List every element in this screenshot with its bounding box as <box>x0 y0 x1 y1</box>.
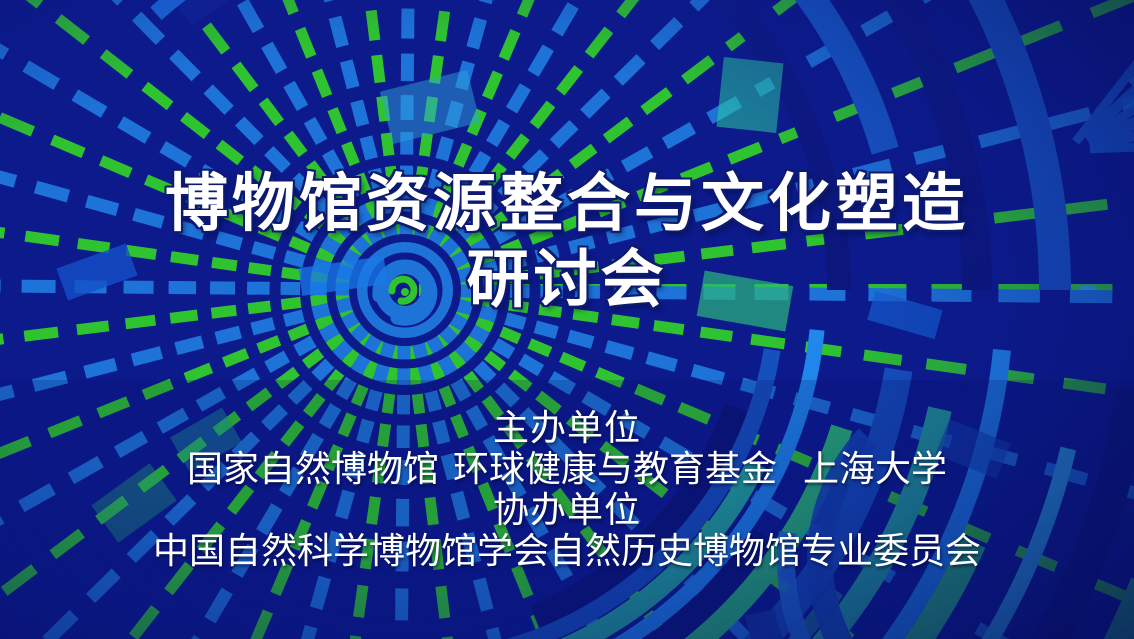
cohost-label: 协办单位 <box>0 490 1134 531</box>
host-label: 主办单位 <box>0 408 1134 449</box>
organizer-block: 主办单位 国家自然博物馆环球健康与教育基金上海大学 协办单位 中国自然科学博物馆… <box>0 408 1134 572</box>
cohost-name-1: 中国自然科学博物馆学会自然历史博物馆专业委员会 <box>153 531 981 571</box>
host-names: 国家自然博物馆环球健康与教育基金上海大学 <box>0 449 1134 490</box>
slide-title: 博物馆资源整合与文化塑造 研讨会 <box>0 166 1134 318</box>
title-line-2: 研讨会 <box>0 242 1134 318</box>
host-name-2: 环球健康与教育基金 <box>453 449 777 489</box>
host-name-3: 上海大学 <box>803 449 947 489</box>
conference-title-slide: 博物馆资源整合与文化塑造 研讨会 主办单位 国家自然博物馆环球健康与教育基金上海… <box>0 0 1134 639</box>
title-line-1: 博物馆资源整合与文化塑造 <box>0 166 1134 242</box>
cohost-names: 中国自然科学博物馆学会自然历史博物馆专业委员会 <box>0 531 1134 572</box>
host-name-1: 国家自然博物馆 <box>187 449 439 489</box>
slide-text-layer: 博物馆资源整合与文化塑造 研讨会 主办单位 国家自然博物馆环球健康与教育基金上海… <box>0 0 1134 639</box>
